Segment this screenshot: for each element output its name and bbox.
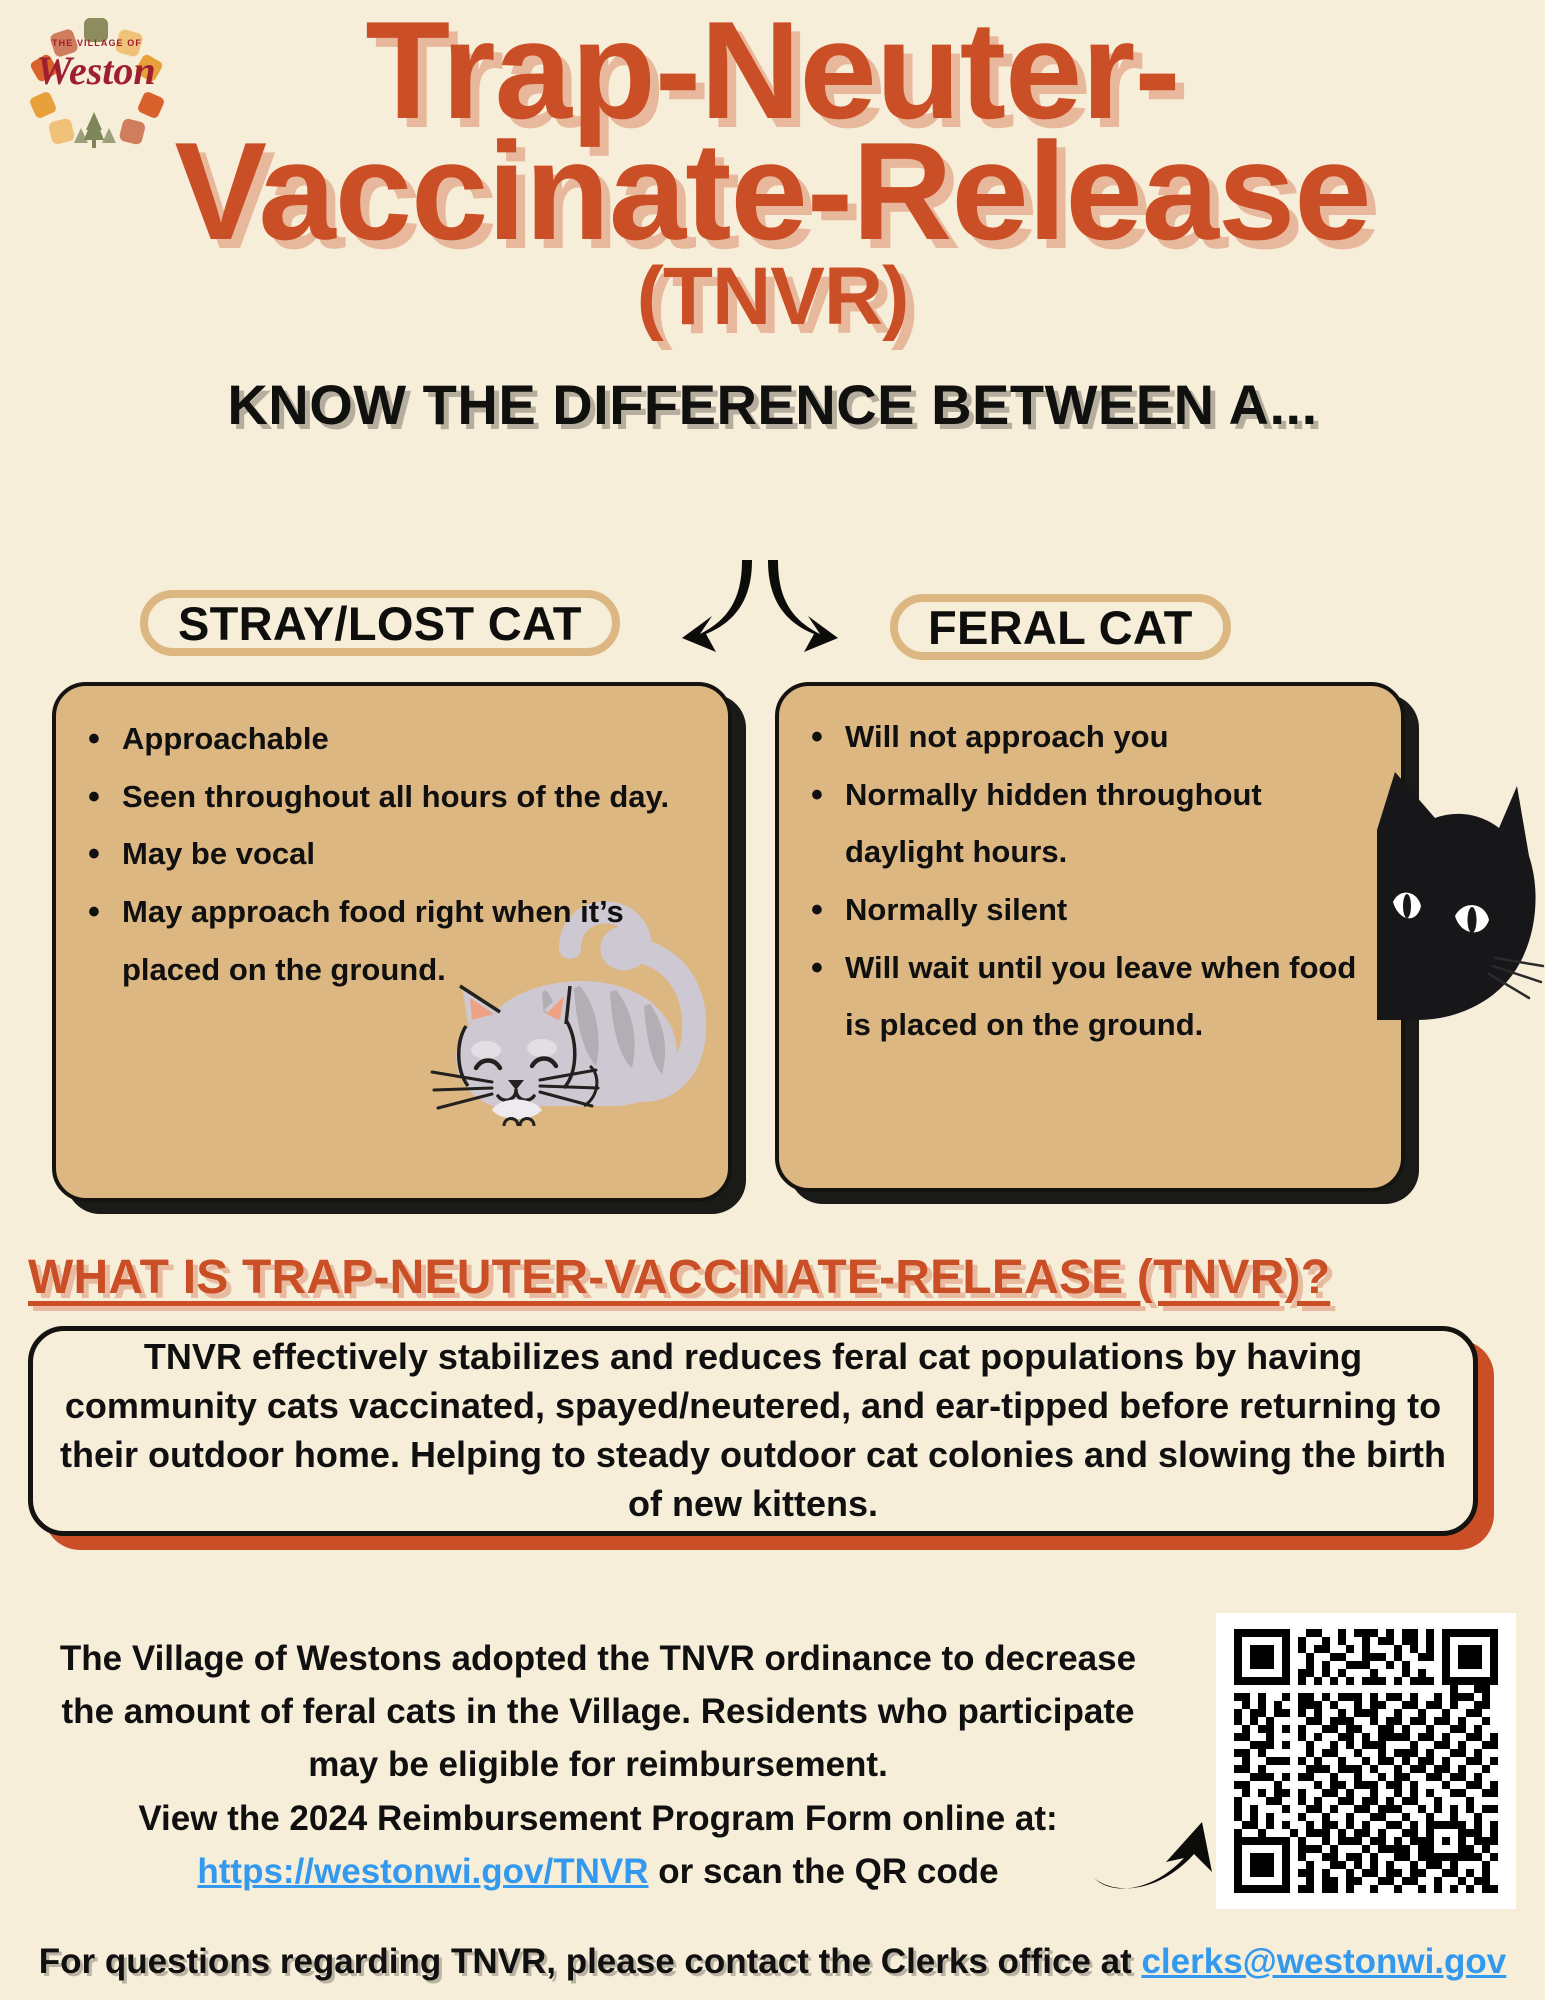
- list-item: Normally hidden throughout daylight hour…: [805, 766, 1383, 881]
- poster-title: Trap-Neuter- Vaccinate-Release (TNVR): [0, 6, 1545, 335]
- tnvr-program-link[interactable]: https://westonwi.gov/TNVR: [197, 1852, 648, 1891]
- title-line-3: (TNVR): [0, 259, 1545, 335]
- bottom-paragraph: The Village of Westons adopted the TNVR …: [48, 1632, 1148, 1898]
- tnvr-definition-box: TNVR effectively stabilizes and reduces …: [28, 1326, 1478, 1536]
- list-item: May approach food right when it’s placed…: [82, 883, 710, 998]
- curved-arrow-to-qr: [1090, 1800, 1220, 1895]
- stray-cat-bullet-list: Approachable Seen throughout all hours o…: [56, 686, 728, 998]
- feral-cat-bullet-list: Will not approach you Normally hidden th…: [779, 686, 1401, 1054]
- footer-text: For questions regarding TNVR, please con…: [39, 1942, 1142, 1981]
- card-body: Approachable Seen throughout all hours o…: [52, 682, 732, 1202]
- title-line-2: Vaccinate-Release: [0, 127, 1545, 256]
- card-stray-lost-cat: Approachable Seen throughout all hours o…: [52, 682, 732, 1202]
- qr-code[interactable]: [1216, 1613, 1516, 1909]
- header-pill-stray-lost-cat: STRAY/LOST CAT: [140, 590, 620, 656]
- list-item: Will wait until you leave when food is p…: [805, 939, 1383, 1054]
- qr-code-svg[interactable]: [1234, 1629, 1498, 1893]
- definition-box-body: TNVR effectively stabilizes and reduces …: [28, 1326, 1478, 1536]
- clerks-email-link[interactable]: clerks@westonwi.gov: [1141, 1942, 1506, 1981]
- black-cat-svg: [1377, 770, 1545, 1020]
- list-item: Seen throughout all hours of the day.: [82, 768, 710, 826]
- qr-arrow-svg: [1090, 1800, 1220, 1895]
- list-item: May be vocal: [82, 825, 710, 883]
- header-pill-label: FERAL CAT: [928, 600, 1193, 655]
- comparison-cards: Approachable Seen throughout all hours o…: [0, 590, 1545, 1220]
- whatis-heading: WHAT IS TRAP-NEUTER-VACCINATE-RELEASE (T…: [28, 1250, 1528, 1305]
- list-item: Will not approach you: [805, 708, 1383, 766]
- header-pill-feral-cat: FERAL CAT: [890, 594, 1231, 660]
- card-body: Will not approach you Normally hidden th…: [775, 682, 1405, 1192]
- bottom-paragraph-part1: The Village of Westons adopted the TNVR …: [60, 1639, 1136, 1784]
- bottom-paragraph-part2: View the 2024 Reimbursement Program Form…: [138, 1799, 1057, 1838]
- header-pill-label: STRAY/LOST CAT: [178, 596, 582, 651]
- subtitle-know-the-difference: KNOW THE DIFFERENCE BETWEEN A...: [0, 372, 1545, 437]
- black-cat-illustration: [1377, 770, 1545, 1020]
- footer-contact: For questions regarding TNVR, please con…: [0, 1942, 1545, 1982]
- card-feral-cat: Will not approach you Normally hidden th…: [775, 682, 1405, 1192]
- list-item: Normally silent: [805, 881, 1383, 939]
- list-item: Approachable: [82, 710, 710, 768]
- bottom-after-link: or scan the QR code: [649, 1852, 999, 1891]
- definition-text: TNVR effectively stabilizes and reduces …: [57, 1333, 1449, 1529]
